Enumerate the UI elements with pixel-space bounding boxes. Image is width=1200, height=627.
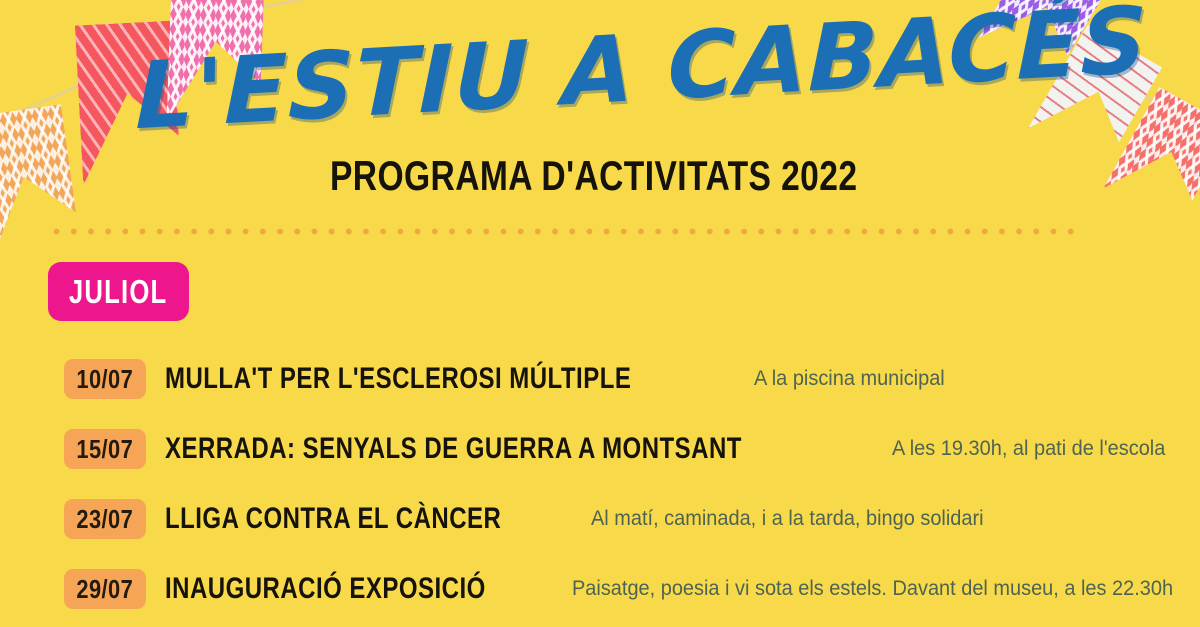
date-badge: 10/07 (64, 359, 146, 399)
date-badge: 29/07 (64, 569, 146, 609)
list-item[interactable]: 29/07 INAUGURACIÓ EXPOSICIÓ Paisatge, po… (0, 554, 1200, 624)
poster-title: L'ESTIU A CABACÉS (135, 0, 1035, 150)
list-item[interactable]: 10/07 MULLA'T PER L'ESCLEROSI MÚLTIPLE A… (0, 344, 1200, 414)
poster-canvas: L'ESTIU A CABACÉS PROGRAMA D'ACTIVITATS … (0, 0, 1200, 627)
event-title: XERRADA: SENYALS DE GUERRA A MONTSANT (165, 432, 742, 466)
list-item[interactable]: 23/07 LLIGA CONTRA EL CÀNCER Al matí, ca… (0, 484, 1200, 554)
date-badge-label: 15/07 (77, 434, 134, 465)
event-title: INAUGURACIÓ EXPOSICIÓ (165, 572, 486, 606)
poster-subtitle: PROGRAMA D'ACTIVITATS 2022 (330, 152, 857, 200)
pennant-coral-zigzag (1103, 87, 1200, 229)
event-title: LLIGA CONTRA EL CÀNCER (165, 502, 501, 536)
event-description: Paisatge, poesia i vi sota els estels. D… (572, 577, 1173, 601)
event-title: MULLA'T PER L'ESCLEROSI MÚLTIPLE (165, 362, 631, 396)
date-badge-label: 10/07 (77, 364, 134, 395)
event-description: A les 19.30h, al pati de l'escola (892, 437, 1165, 461)
month-badge-label: JULIOL (69, 273, 168, 311)
date-badge: 23/07 (64, 499, 146, 539)
date-badge-label: 23/07 (77, 504, 134, 535)
date-badge: 15/07 (64, 429, 146, 469)
event-description: Al matí, caminada, i a la tarda, bingo s… (591, 507, 984, 531)
date-badge-label: 29/07 (77, 574, 134, 605)
event-description: A la piscina municipal (754, 367, 945, 391)
event-list: 10/07 MULLA'T PER L'ESCLEROSI MÚLTIPLE A… (0, 344, 1200, 627)
pennant-orange-zigzag (0, 104, 82, 268)
dotted-divider (48, 227, 1076, 236)
list-item[interactable]: 15/07 XERRADA: SENYALS DE GUERRA A MONTS… (0, 414, 1200, 484)
bunting-string-left-2 (262, 0, 448, 9)
month-badge-juliol[interactable]: JULIOL (48, 262, 189, 321)
